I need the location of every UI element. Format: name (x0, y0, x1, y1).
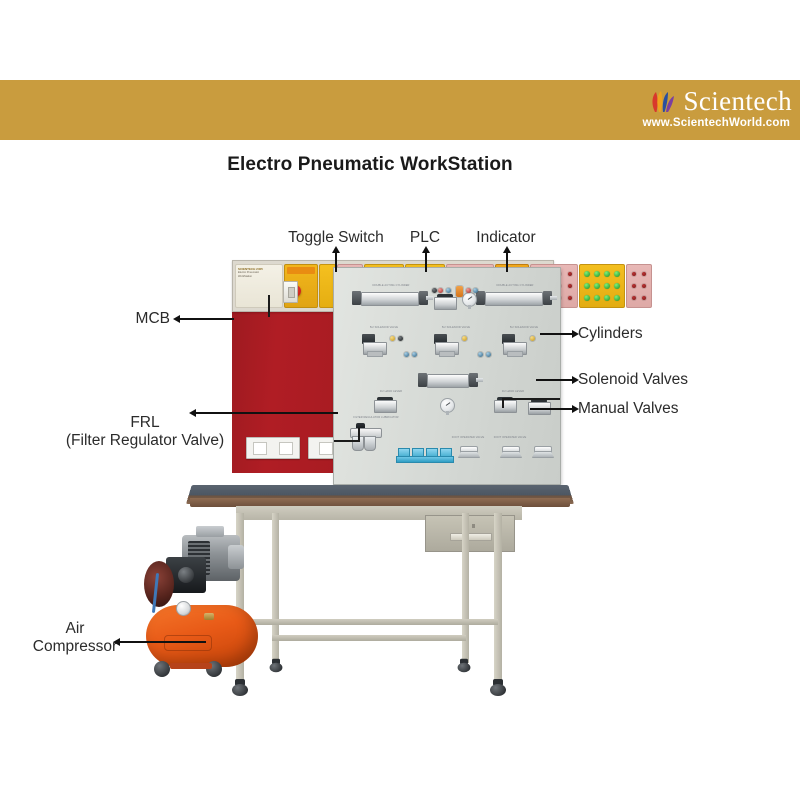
manual-valve-top-1[interactable] (434, 294, 456, 311)
board-port-blue-6[interactable] (486, 352, 491, 357)
board-port-red-1[interactable] (438, 288, 443, 293)
page-title: Electro Pneumatic WorkStation (0, 154, 740, 176)
cylinder-2 (476, 292, 554, 304)
drawer-handle[interactable] (450, 533, 492, 541)
solenoid-valve-2[interactable] (434, 334, 460, 354)
blue-valve-manifold[interactable] (396, 450, 452, 463)
brand-name: Scientech (683, 86, 792, 116)
board-label-frl: FILTER REGULATOR LUBRICATOR (348, 416, 404, 419)
panel-brand-label: SCIENTECH 2405 Electro Pneumatic WorkSta… (235, 264, 283, 308)
arrow-indicator (506, 252, 508, 272)
solenoid-valve-1[interactable] (362, 334, 388, 354)
panel-brand-line3: WorkStation (238, 275, 280, 278)
board-port-yellow-1[interactable] (390, 336, 395, 341)
board-orange-connector[interactable] (456, 286, 463, 297)
annotation-toggle-switch: Toggle Switch (276, 229, 396, 247)
board-port-blue-3[interactable] (404, 352, 409, 357)
compressor-outlet-valve[interactable] (204, 613, 214, 620)
emergency-label-tag (287, 267, 315, 274)
compressor-foot-bar (170, 663, 212, 669)
cylinder-1 (352, 292, 430, 304)
terminal-block-4[interactable] (626, 264, 652, 308)
board-label-solenoid-3: 5/2 SOLENOID VALVE (494, 326, 554, 329)
table-caster-front-right (490, 679, 506, 696)
board-port-yellow-3[interactable] (530, 336, 535, 341)
board-port-blue-2[interactable] (473, 288, 478, 293)
board-port-black-1[interactable] (432, 288, 437, 293)
arrow-cylinders (540, 333, 572, 335)
compressor-pressure-gauge (176, 601, 191, 616)
board-port-blue-5[interactable] (478, 352, 483, 357)
brand-block: Scientech www.ScientechWorld.com (562, 84, 792, 138)
board-label-manual-1: 3/2 HAND LEVER (368, 390, 414, 393)
arrow-solenoid-valves (536, 379, 572, 381)
board-label-cylinder-2: DOUBLE ACTING CYLINDER (480, 284, 550, 287)
board-port-blue-1[interactable] (446, 288, 451, 293)
board-port-blue-4[interactable] (412, 352, 417, 357)
arrow-toggle-switch (335, 252, 337, 272)
scientech-flame-logo-icon (647, 86, 677, 116)
manual-valve-1[interactable] (374, 397, 396, 414)
solenoid-valve-3[interactable] (502, 334, 528, 354)
drawer-keyhole (472, 524, 475, 528)
annotation-frl: FRL (Filter Regulator Valve) (30, 414, 260, 450)
compressor-tank (146, 605, 258, 667)
foot-pedal-valve-1[interactable] (458, 446, 478, 458)
board-port-yellow-2[interactable] (462, 336, 467, 341)
annotation-indicator: Indicator (461, 229, 551, 247)
tube-frl-inlet (334, 440, 360, 442)
arrow-frl (196, 412, 338, 414)
foot-pedal-valve-2[interactable] (500, 446, 520, 458)
pressure-gauge-2 (440, 398, 455, 413)
tube-right-drop (502, 398, 504, 408)
foot-pedal-valve-3[interactable] (532, 446, 552, 458)
arrow-mcb (180, 318, 234, 320)
indicator-lamp-panel-1[interactable] (579, 264, 625, 308)
air-compressor (140, 517, 270, 702)
table-leg-front-right (494, 513, 502, 681)
brand-url: www.ScientechWorld.com (562, 117, 792, 129)
table-stretcher-front (240, 619, 498, 625)
arrow-air-compressor (120, 641, 206, 643)
tube-frl-riser (358, 428, 360, 442)
annotation-mcb: MCB (100, 310, 170, 328)
board-label-cylinder-1: DOUBLE ACTING CYLINDER (356, 284, 426, 287)
compressor-flywheel (144, 561, 174, 607)
screenshot-root: Scientech www.ScientechWorld.com Electro… (0, 0, 800, 800)
board-label-manual-2: 3/2 HAND LEVER (490, 390, 536, 393)
board-label-solenoid-1: 5/2 SOLENOID VALVE (354, 326, 414, 329)
pressure-gauge-1 (462, 292, 477, 307)
pneumatic-board: DOUBLE ACTING CYLINDER DOUBLE ACTING CYL… (333, 267, 561, 485)
mcb-breaker-switch[interactable] (283, 281, 298, 303)
board-label-solenoid-2: 5/2 SOLENOID VALVE (426, 326, 486, 329)
annotation-manual-valves: Manual Valves (578, 400, 679, 418)
board-label-pedal-1: FOOT OPERATED VALVE (448, 436, 488, 439)
annotation-frl-line1: FRL (130, 414, 159, 431)
board-port-red-2[interactable] (466, 288, 471, 293)
table-caster-rear-left (270, 659, 283, 673)
wire-mcb-drop (268, 295, 270, 317)
cylinder-3 (418, 374, 480, 386)
table-caster-rear-right (458, 659, 471, 673)
annotation-plc: PLC (395, 229, 455, 247)
frl-unit[interactable] (350, 428, 380, 458)
annotation-frl-line2: (Filter Regulator Valve) (30, 432, 260, 450)
arrow-manual-valves (530, 408, 572, 410)
arrow-plc (425, 252, 427, 272)
tube-right-run (502, 398, 560, 400)
board-port-black-2[interactable] (398, 336, 403, 341)
annotation-air-compressor-line1: Air (66, 620, 85, 637)
annotation-air-compressor: Air Compressor (10, 620, 140, 656)
compressor-wheel-left (154, 661, 170, 677)
annotation-solenoid-valves: Solenoid Valves (578, 371, 688, 389)
annotation-cylinders: Cylinders (578, 325, 643, 343)
table-stretcher-rear (272, 635, 466, 641)
board-label-pedal-2: FOOT OPERATED VALVE (490, 436, 530, 439)
